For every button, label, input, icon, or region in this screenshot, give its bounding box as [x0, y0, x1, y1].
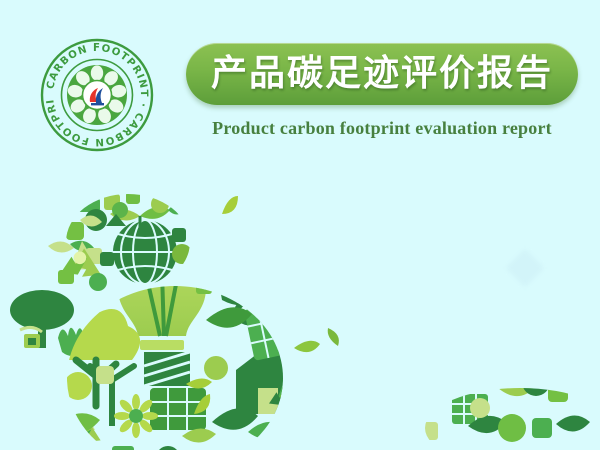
leaf-icon: [294, 341, 320, 352]
eco-footprint-artwork: [0, 170, 600, 450]
eco-icon-cluster: [379, 368, 590, 442]
page-title: 产品碳足迹评价报告: [211, 56, 553, 92]
leaf-icon: [328, 328, 339, 346]
carbon-footprint-seal-logo: CARBON FOOTPRINT · CARBON FOOTPRINT ·: [38, 36, 156, 154]
leaf-icon: [222, 196, 238, 214]
footprint-toe-cluster: [66, 192, 192, 284]
globe-icon: [113, 220, 177, 284]
cover-page: CARBON FOOTPRINT · CARBON FOOTPRINT ·: [0, 0, 600, 450]
striped-block-icon: [144, 352, 190, 386]
report-title-banner: 产品碳足迹评价报告: [186, 43, 578, 105]
tree-icon: [53, 309, 140, 406]
wind-turbine-icon: [248, 264, 288, 316]
sunflower-icon: [114, 394, 158, 438]
footprint-tail-cluster: [379, 368, 590, 442]
page-subtitle: Product carbon footprint evaluation repo…: [186, 118, 578, 139]
